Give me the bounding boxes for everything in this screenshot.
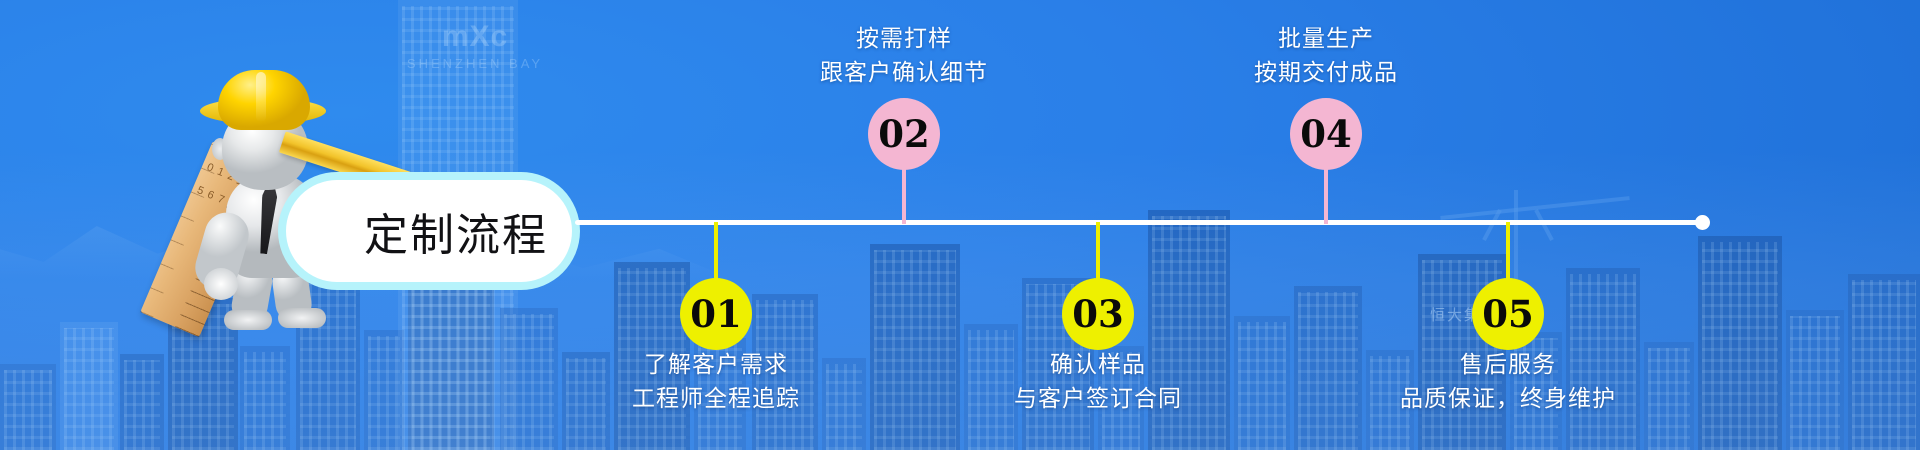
step-caption-line: 批量生产 bbox=[1066, 22, 1586, 56]
step-stem bbox=[1506, 222, 1510, 280]
step-caption-line: 售后服务 bbox=[1248, 348, 1768, 382]
tower-logo-sub: SHENZHEN BAY bbox=[400, 56, 550, 71]
tower-logo-mark: mXc bbox=[400, 18, 550, 56]
step-badge-02[interactable]: 02 bbox=[868, 98, 940, 170]
step-caption-05: 售后服务 品质保证，终身维护 bbox=[1248, 348, 1768, 416]
mascot-hand bbox=[204, 268, 238, 300]
step-badge-04[interactable]: 04 bbox=[1290, 98, 1362, 170]
mascot-foot bbox=[224, 310, 272, 330]
step-caption-04: 批量生产 按期交付成品 bbox=[1066, 22, 1586, 90]
step-badge-03[interactable]: 03 bbox=[1062, 278, 1134, 350]
mascot-foot bbox=[278, 308, 326, 328]
step-stem bbox=[902, 168, 906, 224]
step-badge-05[interactable]: 05 bbox=[1472, 278, 1544, 350]
timeline-end-dot bbox=[1695, 215, 1710, 230]
step-stem bbox=[1324, 168, 1328, 224]
page-title: 定制流程 bbox=[286, 180, 572, 282]
step-caption-line: 品质保证，终身维护 bbox=[1248, 382, 1768, 416]
step-stem bbox=[1096, 222, 1100, 280]
step-badge-01[interactable]: 01 bbox=[680, 278, 752, 350]
banner-stage: mXc SHENZHEN BAY 恒大集团 0 1 2 3 4 5 6 7 8 bbox=[0, 0, 1920, 450]
step-caption-line: 按期交付成品 bbox=[1066, 56, 1586, 90]
tower-logo: mXc SHENZHEN BAY bbox=[400, 18, 550, 96]
timeline-track bbox=[575, 220, 1703, 225]
step-stem bbox=[714, 222, 718, 280]
hard-hat-rib bbox=[256, 72, 266, 122]
